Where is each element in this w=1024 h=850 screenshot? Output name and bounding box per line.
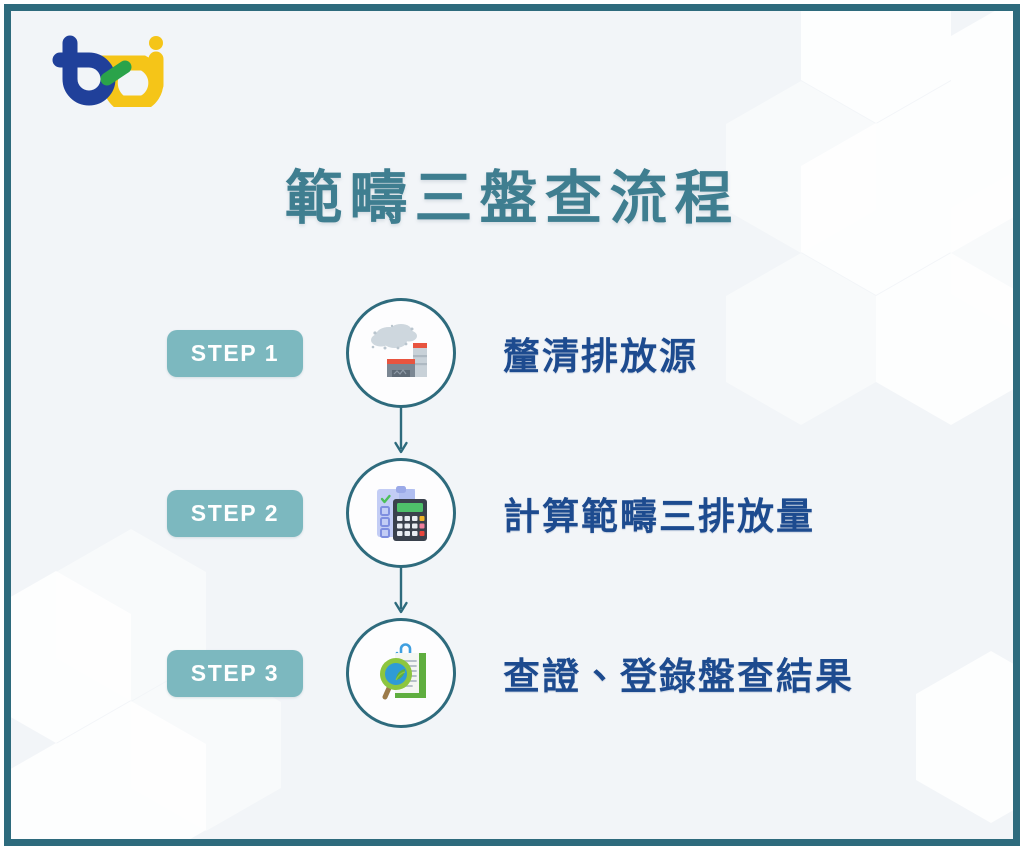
calculator-display — [397, 503, 423, 512]
step-label-1: 釐清排放源 — [503, 326, 698, 380]
step-badge-2[interactable]: STEP 2 — [167, 490, 303, 537]
chimney-top-band — [413, 343, 427, 348]
tej-logo — [45, 33, 175, 107]
flow-step-1: STEP 1 — [11, 295, 1013, 411]
smoke-cloud-group — [371, 324, 417, 348]
calculator-key-red — [420, 531, 425, 536]
calculator-keys — [397, 516, 418, 536]
document-green-base — [395, 693, 426, 698]
arrow-step1-to-step2 — [393, 407, 409, 459]
step-icon-circle-2[interactable] — [346, 458, 456, 568]
clipboard-clip — [396, 486, 406, 493]
calculator-key-pink — [420, 524, 425, 529]
page-title: 範疇三盤查流程 — [11, 151, 1013, 235]
chimney-body — [413, 343, 427, 377]
step-badge-3[interactable]: STEP 3 — [167, 650, 303, 697]
document-green-edge — [419, 653, 426, 697]
flow-diagram: STEP 1 — [11, 295, 1013, 755]
step-badge-1[interactable]: STEP 1 — [167, 330, 303, 377]
factory-emissions-icon — [365, 317, 437, 389]
step-label-2: 計算範疇三排放量 — [503, 486, 815, 540]
slide-root: 範疇三盤查流程 STEP 1 — [0, 0, 1024, 850]
step-icon-circle-1[interactable] — [346, 298, 456, 408]
slide-frame: 範疇三盤查流程 STEP 1 — [4, 4, 1020, 846]
logo-blue-shape — [60, 43, 108, 98]
flow-step-2: STEP 2 — [11, 455, 1013, 571]
flow-step-3: STEP 3 — [11, 615, 1013, 731]
step-label-3: 查證、登錄盤查結果 — [503, 646, 854, 700]
step-icon-circle-3[interactable] — [346, 618, 456, 728]
calculator-checklist-icon — [365, 477, 437, 549]
calculator-key-orange — [420, 516, 425, 521]
factory-roof — [387, 359, 415, 364]
logo-yellow-dot — [149, 36, 163, 50]
arrow-step2-to-step3 — [393, 567, 409, 619]
document-magnifier-leaf-icon — [365, 637, 437, 709]
